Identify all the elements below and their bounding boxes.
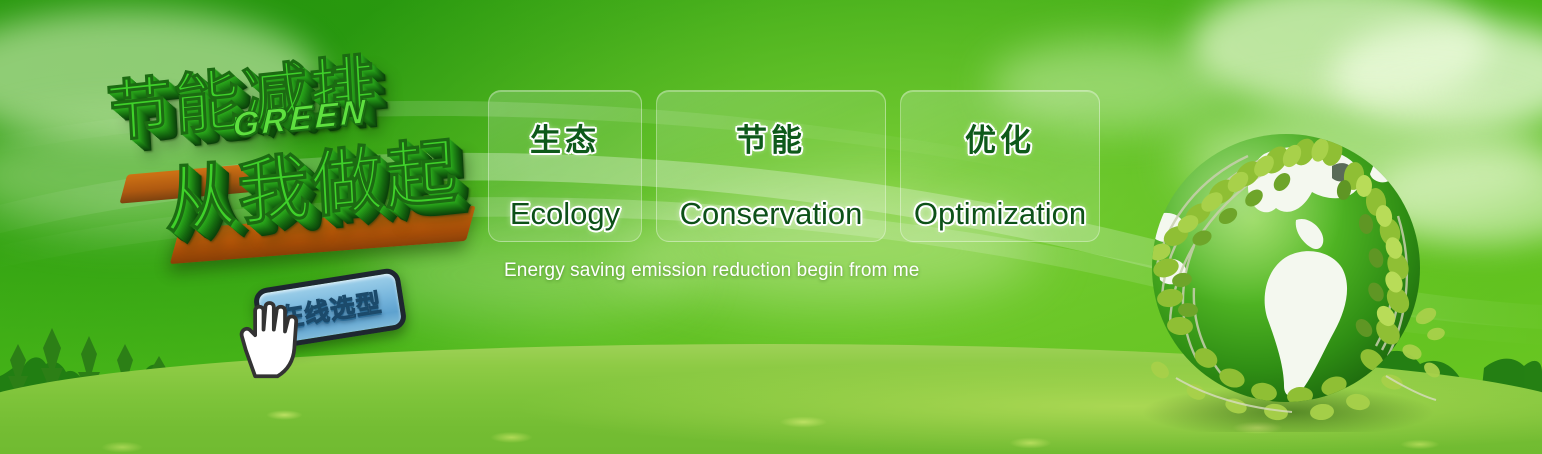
banner-tagline: Energy saving emission reduction begin f…	[504, 260, 919, 282]
feature-card-conservation[interactable]: 节能 Conservation	[656, 90, 886, 242]
cloud-icon	[1190, 0, 1490, 110]
feature-card-en-label: Optimization	[914, 196, 1086, 232]
hero-headline: 节能减排 GREEN 从我做起	[87, 18, 509, 289]
feature-card-cn-label: 节能	[736, 115, 806, 160]
feature-card-ecology[interactable]: 生态 Ecology	[488, 90, 642, 242]
leafy-globe-icon	[1136, 120, 1446, 432]
feature-card-en-label: Ecology	[510, 196, 620, 232]
feature-card-cn-label: 生态	[530, 115, 600, 160]
feature-card-en-label: Conservation	[680, 196, 863, 232]
cloud-icon	[1330, 20, 1542, 130]
eco-hero-banner: 节能减排 GREEN 从我做起 在线选型 生态 Ecology 节能 Conse…	[0, 0, 1542, 454]
feature-card-cn-label: 优化	[965, 115, 1035, 160]
hand-pointer-icon	[234, 296, 308, 380]
feature-card-optimization[interactable]: 优化 Optimization	[900, 90, 1100, 242]
feature-card-list: 生态 Ecology 节能 Conservation 优化 Optimizati…	[488, 90, 1100, 242]
